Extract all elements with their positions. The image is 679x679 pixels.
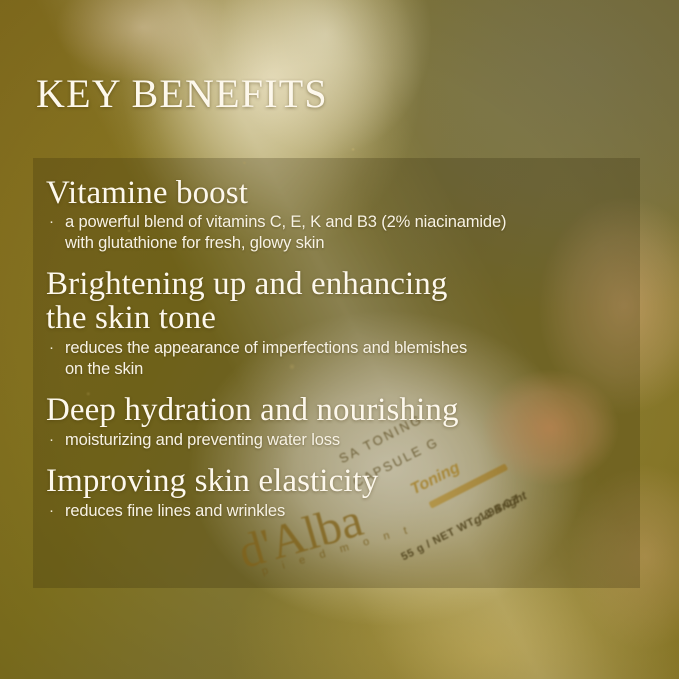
page-title: KEY BENEFITS <box>36 74 328 114</box>
benefit-bullet-text: reduces the appearance of imperfections … <box>65 338 646 380</box>
benefit-heading: Brightening up and enhancing the skin to… <box>46 267 646 335</box>
benefit-heading: Improving skin elasticity <box>46 464 646 498</box>
bullet-dot-icon: · <box>46 212 65 231</box>
benefit-item: Brightening up and enhancing the skin to… <box>46 267 646 380</box>
benefit-heading: Deep hydration and nourishing <box>46 393 646 427</box>
benefit-bullet: · reduces the appearance of imperfection… <box>46 338 646 380</box>
benefit-bullet: · a powerful blend of vitamins C, E, K a… <box>46 212 646 254</box>
benefit-heading: Vitamine boost <box>46 176 646 210</box>
key-benefits-graphic: SA TONING CAPSULE G Toning g & Bright d'… <box>0 0 679 679</box>
bullet-dot-icon: · <box>46 430 65 449</box>
benefit-bullet-text: reduces fine lines and wrinkles <box>65 501 646 522</box>
benefits-list: Vitamine boost · a powerful blend of vit… <box>46 176 646 536</box>
benefit-bullet: · moisturizing and preventing water loss <box>46 430 646 451</box>
bullet-dot-icon: · <box>46 501 65 520</box>
benefit-item: Improving skin elasticity · reduces fine… <box>46 464 646 522</box>
benefit-bullet: · reduces fine lines and wrinkles <box>46 501 646 522</box>
benefit-item: Vitamine boost · a powerful blend of vit… <box>46 176 646 254</box>
bullet-dot-icon: · <box>46 338 65 357</box>
benefit-bullet-text: moisturizing and preventing water loss <box>65 430 646 451</box>
benefit-item: Deep hydration and nourishing · moisturi… <box>46 393 646 451</box>
benefit-bullet-text: a powerful blend of vitamins C, E, K and… <box>65 212 646 254</box>
